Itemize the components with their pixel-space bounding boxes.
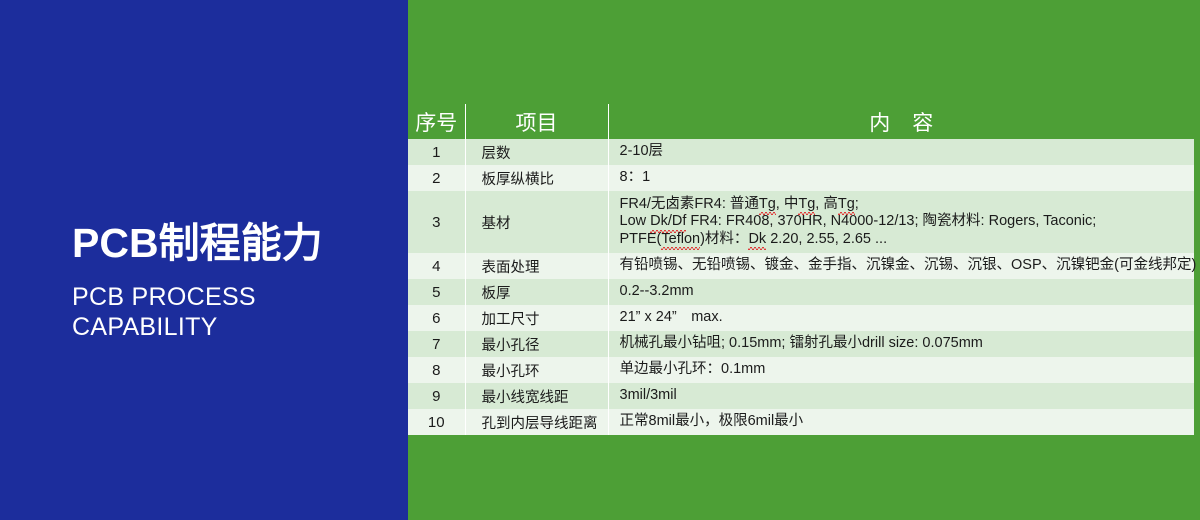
content-line: 0.2--3.2mm bbox=[620, 283, 1195, 301]
content-line: 8：1 bbox=[620, 169, 1195, 187]
row-number: 5 bbox=[408, 279, 465, 305]
table-row: 10 孔到内层导线距离 正常8mil最小，极限6mil最小 bbox=[408, 409, 1194, 435]
row-number: 6 bbox=[408, 305, 465, 331]
content-line: 正常8mil最小，极限6mil最小 bbox=[620, 413, 1195, 431]
table-row: 3 基材 FR4/无卤素FR4: 普通Tg, 中Tg, 高Tg; Low Dk/… bbox=[408, 191, 1194, 253]
row-content: 单边最小孔环：0.1mm bbox=[608, 357, 1194, 383]
row-number: 10 bbox=[408, 409, 465, 435]
content-line: 机械孔最小钻咀; 0.15mm; 镭射孔最小drill size: 0.075m… bbox=[620, 335, 1195, 353]
row-item: 板厚 bbox=[465, 279, 608, 305]
table-row: 1 层数 2-10层 bbox=[408, 139, 1194, 165]
table-row: 6 加工尺寸 21” x 24” max. bbox=[408, 305, 1194, 331]
row-number: 1 bbox=[408, 139, 465, 165]
row-item: 层数 bbox=[465, 139, 608, 165]
table-body: 1 层数 2-10层 2 板厚纵横比 8：1 3 基材 FR4/无卤素FR4: … bbox=[408, 139, 1194, 435]
row-item: 最小孔径 bbox=[465, 331, 608, 357]
row-number: 4 bbox=[408, 253, 465, 279]
page-title-en-line2: CAPABILITY bbox=[72, 312, 402, 342]
left-blue-panel: PCB制程能力 PCB PROCESS CAPABILITY bbox=[0, 0, 408, 520]
pcb-capability-table: 序号 项目 内容 1 层数 2-10层 2 板厚纵横比 8：1 bbox=[408, 104, 1194, 435]
row-content: 8：1 bbox=[608, 165, 1194, 191]
row-content: FR4/无卤素FR4: 普通Tg, 中Tg, 高Tg; Low Dk/Df FR… bbox=[608, 191, 1194, 253]
page-title-cn: PCB制程能力 bbox=[72, 218, 402, 268]
row-content: 21” x 24” max. bbox=[608, 305, 1194, 331]
table-row: 2 板厚纵横比 8：1 bbox=[408, 165, 1194, 191]
row-item: 板厚纵横比 bbox=[465, 165, 608, 191]
table-header-row: 序号 项目 内容 bbox=[408, 104, 1194, 139]
content-line: 21” x 24” max. bbox=[620, 309, 1195, 327]
content-line: 有铅喷锡、无铅喷锡、镀金、金手指、沉镍金、沉锡、沉银、OSP、沉镍钯金(可金线邦… bbox=[620, 257, 1195, 275]
row-number: 7 bbox=[408, 331, 465, 357]
row-number: 8 bbox=[408, 357, 465, 383]
page-title-en-line1: PCB PROCESS bbox=[72, 282, 402, 312]
row-number: 9 bbox=[408, 383, 465, 409]
row-number: 3 bbox=[408, 191, 465, 253]
row-content: 3mil/3mil bbox=[608, 383, 1194, 409]
column-header-no: 序号 bbox=[408, 104, 465, 139]
content-line: FR4/无卤素FR4: 普通Tg, 中Tg, 高Tg; bbox=[620, 196, 1195, 214]
row-content: 0.2--3.2mm bbox=[608, 279, 1194, 305]
table-row: 4 表面处理 有铅喷锡、无铅喷锡、镀金、金手指、沉镍金、沉锡、沉银、OSP、沉镍… bbox=[408, 253, 1194, 279]
row-item: 基材 bbox=[465, 191, 608, 253]
column-header-item: 项目 bbox=[465, 104, 608, 139]
row-number: 2 bbox=[408, 165, 465, 191]
row-content: 正常8mil最小，极限6mil最小 bbox=[608, 409, 1194, 435]
content-line: PTFE(Teflon)材料：Dk 2.20, 2.55, 2.65 ... bbox=[620, 231, 1195, 249]
content-line: 单边最小孔环：0.1mm bbox=[620, 361, 1195, 379]
table-row: 5 板厚 0.2--3.2mm bbox=[408, 279, 1194, 305]
row-content: 有铅喷锡、无铅喷锡、镀金、金手指、沉镍金、沉锡、沉银、OSP、沉镍钯金(可金线邦… bbox=[608, 253, 1194, 279]
table-row: 7 最小孔径 机械孔最小钻咀; 0.15mm; 镭射孔最小drill size:… bbox=[408, 331, 1194, 357]
row-item: 孔到内层导线距离 bbox=[465, 409, 608, 435]
content-line: 3mil/3mil bbox=[620, 387, 1195, 405]
table-row: 9 最小线宽线距 3mil/3mil bbox=[408, 383, 1194, 409]
content-line: Low Dk/Df FR4: FR408, 370HR, N4000-12/13… bbox=[620, 213, 1195, 231]
page-title-en: PCB PROCESS CAPABILITY bbox=[72, 282, 402, 342]
title-block: PCB制程能力 PCB PROCESS CAPABILITY bbox=[72, 218, 402, 342]
row-item: 表面处理 bbox=[465, 253, 608, 279]
content-line: 2-10层 bbox=[620, 143, 1195, 161]
slide-root: PCB制程能力 PCB PROCESS CAPABILITY 序号 项目 内容 bbox=[0, 0, 1200, 520]
column-header-content-left: 内 bbox=[869, 112, 890, 135]
row-item: 加工尺寸 bbox=[465, 305, 608, 331]
row-item: 最小线宽线距 bbox=[465, 383, 608, 409]
row-content: 2-10层 bbox=[608, 139, 1194, 165]
row-content: 机械孔最小钻咀; 0.15mm; 镭射孔最小drill size: 0.075m… bbox=[608, 331, 1194, 357]
column-header-content-right: 容 bbox=[912, 112, 933, 135]
table-header: 序号 项目 内容 bbox=[408, 104, 1194, 139]
column-header-content: 内容 bbox=[608, 104, 1194, 139]
row-item: 最小孔环 bbox=[465, 357, 608, 383]
table-row: 8 最小孔环 单边最小孔环：0.1mm bbox=[408, 357, 1194, 383]
